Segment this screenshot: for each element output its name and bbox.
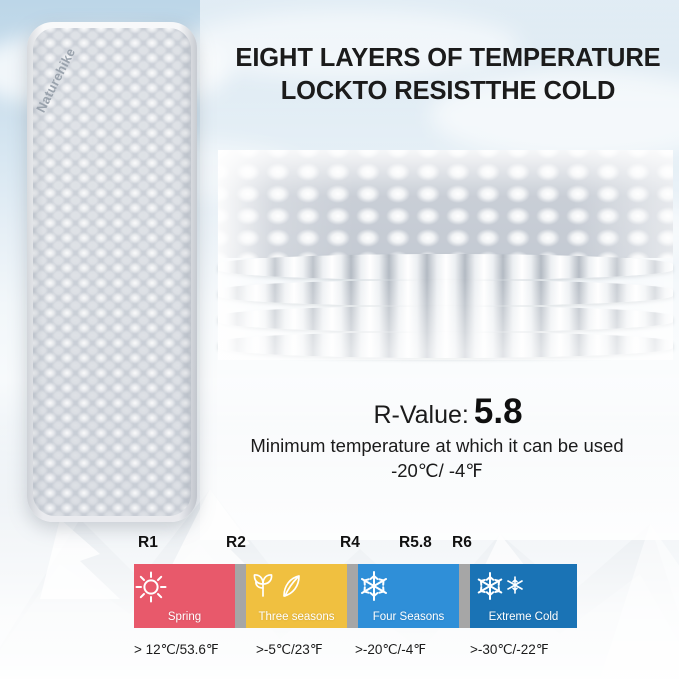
- leaf-flower-icon: [246, 570, 347, 600]
- r-tick-r2: R2: [226, 534, 246, 552]
- r-value-subtitle-line-2: -20℃/ -4℉: [200, 459, 674, 484]
- r-value-label: R-Value:: [373, 401, 468, 429]
- scale-divider: [347, 564, 358, 628]
- scale-segment-label-spring: Spring: [168, 611, 201, 628]
- temperature-label-row: > 12℃/53.6℉ >-5℃/23℉ >-20℃/-4℉ >-30℃/-22…: [0, 642, 679, 666]
- sun-icon: [134, 570, 235, 604]
- r-value-subtitle-line-1: Minimum temperature at which it can be u…: [200, 434, 674, 459]
- r-value-number: 5.8: [474, 392, 523, 431]
- r-tick-r1: R1: [138, 534, 158, 552]
- scale-segment-spring: Spring: [134, 564, 235, 628]
- r-value-scale-bar: Spring Three seasons: [134, 564, 577, 628]
- r-tick-r6: R6: [452, 534, 472, 552]
- snowflake-icon: [358, 570, 459, 602]
- r-tick-r4: R4: [340, 534, 360, 552]
- r-tick-r58: R5.8: [399, 534, 432, 552]
- pad-right-edge: [179, 22, 197, 522]
- headline-line-1: EIGHT LAYERS OF TEMPERATURE: [222, 42, 674, 75]
- scale-segment-label-extreme-cold: Extreme Cold: [489, 611, 559, 628]
- scale-divider: [235, 564, 246, 628]
- double-snowflake-icon: [470, 570, 577, 602]
- r-value-tick-row: R1 R2 R4 R5.8 R6: [0, 534, 679, 562]
- r-value-block: R-Value:5.8: [222, 392, 674, 432]
- foam-layer-stack-image: [218, 150, 673, 350]
- temperature-extreme-cold: >-30℃/-22℉: [470, 642, 549, 658]
- scale-segment-extreme-cold: Extreme Cold: [470, 564, 577, 628]
- scale-segment-three-seasons: Three seasons: [246, 564, 347, 628]
- scale-divider: [459, 564, 470, 628]
- scale-segment-four-seasons: Four Seasons: [358, 564, 459, 628]
- temperature-three-seasons: >-5℃/23℉: [256, 642, 323, 658]
- page-title: EIGHT LAYERS OF TEMPERATURE LOCKTO RESIS…: [222, 42, 674, 107]
- r-value-subtitle: Minimum temperature at which it can be u…: [200, 434, 674, 483]
- headline-line-2: LOCKTO RESISTTHE COLD: [222, 75, 674, 108]
- stack-vertical-fade: [218, 150, 673, 360]
- product-infographic: Naturehike EIGHT LAYERS OF TEMPERATURE L…: [0, 0, 679, 679]
- scale-segment-label-three-seasons: Three seasons: [258, 611, 334, 628]
- temperature-spring: > 12℃/53.6℉: [134, 642, 219, 658]
- pad-quilt-pattern-offset: [33, 28, 191, 516]
- temperature-four-seasons: >-20℃/-4℉: [355, 642, 426, 658]
- sleeping-pad-image: Naturehike: [27, 22, 197, 522]
- scale-segment-label-four-seasons: Four Seasons: [373, 611, 445, 628]
